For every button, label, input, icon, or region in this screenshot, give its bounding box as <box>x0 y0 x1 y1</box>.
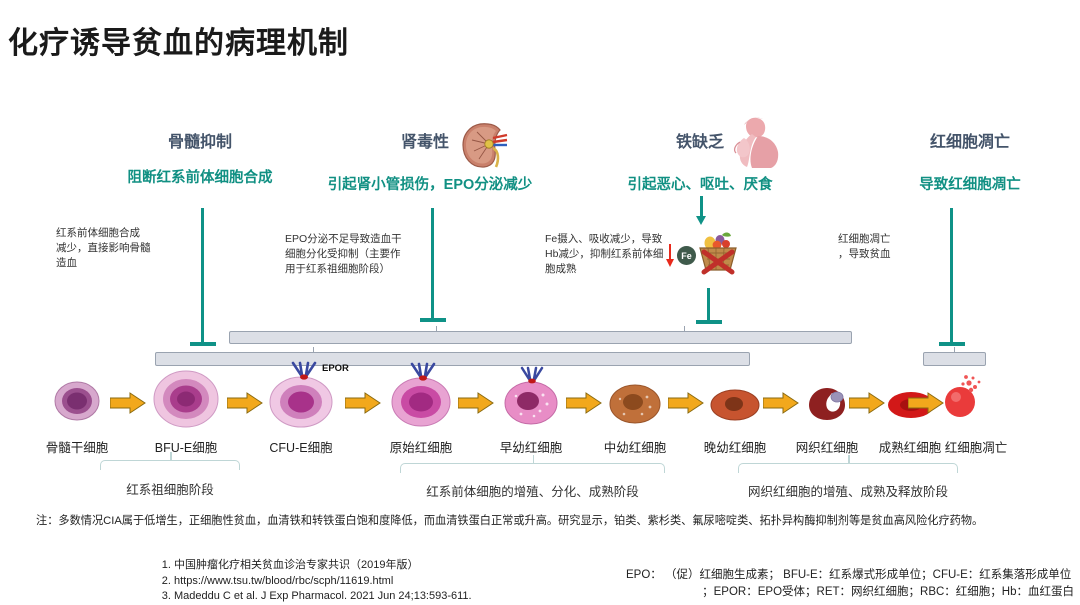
nausea-person-icon <box>716 116 782 170</box>
arrow-4 <box>458 392 494 419</box>
inhibition-bar-iron-deficiency <box>696 288 722 328</box>
arrow-3 <box>345 392 381 419</box>
stage-caption-precursor: 红系前体细胞的增殖、分化、成熟阶段 <box>390 481 675 500</box>
cell-label-cfu-e: CFU-E细胞 <box>253 437 349 456</box>
decrease-arrow-icon <box>665 244 675 273</box>
cell-label-polychromatic-erythroblast: 中幼红细胞 <box>587 437 683 456</box>
pathway-bracket-upper <box>229 331 852 344</box>
arrow-6 <box>668 392 704 419</box>
epor-label: EPOR <box>322 363 349 374</box>
pathway-bracket-lower <box>155 352 750 366</box>
fruit-basket-blocked-icon <box>692 228 744 283</box>
column-header-myelosuppression: 骨髓抑制 <box>100 128 300 152</box>
reference-item: Madeddu C et al. J Exp Pharmacol. 2021 J… <box>174 589 472 605</box>
arrow-2 <box>227 392 263 419</box>
column-subtitle-myelosuppression: 阻断红系前体细胞合成 <box>95 166 305 187</box>
inhibition-bar-rbc-apoptosis <box>939 208 965 350</box>
stage-caption-progenitor: 红系祖细胞阶段 <box>110 479 230 498</box>
teal-down-arrow-iron <box>696 196 707 226</box>
footnote-note: 注：多数情况CIA属于低增生，正细胞性贫血，血清铁和转铁蛋白饱和度降低，而血清铁… <box>36 512 1048 530</box>
abbreviation-legend: EPO： （促）红细胞生成素； BFU-E：红系爆式形成单位；CFU-E：红系集… <box>626 567 1074 602</box>
arrow-8 <box>849 392 885 419</box>
cell-label-stem: 骨髓干细胞 <box>29 437 125 456</box>
inhibition-bar-myelosuppression <box>190 208 216 350</box>
column-header-rbc-apoptosis: 红细胞凋亡 <box>870 128 1070 152</box>
epor-receptor-icon-proerythroblast <box>408 362 438 387</box>
cell-label-apoptosis: 红细胞凋亡 <box>928 437 1024 456</box>
page-title: 化疗诱导贫血的病理机制 <box>8 18 349 62</box>
kidney-icon <box>455 118 515 173</box>
cell-orthochromatic-erythroblast <box>710 386 760 429</box>
cell-stem <box>53 379 101 428</box>
cell-label-bfu-e: BFU-E细胞 <box>138 437 234 456</box>
arrow-7 <box>763 392 799 419</box>
cell-polychromatic-erythroblast <box>608 381 662 431</box>
legend-line-1: EPO： （促）红细胞生成素； BFU-E：红系爆式形成单位；CFU-E：红系集… <box>626 567 1074 584</box>
epor-receptor-icon-cfu-e <box>289 361 319 386</box>
arrow-5 <box>566 392 602 419</box>
pathway-bracket-apoptosis <box>923 352 986 366</box>
epor-receptor-icon-basophilic <box>518 366 546 390</box>
stage-bracket-precursor <box>400 463 665 473</box>
stage-bracket-reticulocyte <box>738 463 958 473</box>
cell-label-basophilic-erythroblast: 早幼红细胞 <box>483 437 579 456</box>
stage-bracket-progenitor <box>100 460 240 470</box>
cell-label-orthochromatic-erythroblast: 晚幼红细胞 <box>687 437 783 456</box>
cell-label-proerythroblast: 原始红细胞 <box>373 437 469 456</box>
arrow-1 <box>110 392 146 419</box>
cell-apoptosis <box>938 372 986 425</box>
stage-caption-reticulocyte: 网织红细胞的增殖、成熟及释放阶段 <box>732 481 964 500</box>
column-subtitle-nephrotoxicity: 引起肾小管损伤，EPO分泌减少 <box>285 173 575 194</box>
legend-line-2: ；EPOR：EPO受体；RET：网织红细胞；RBC：红细胞；Hb：血红蛋白 <box>626 584 1074 601</box>
reference-list: 中国肿瘤化疗相关贫血诊治专家共识（2019年版） https://www.tsu… <box>152 558 472 605</box>
cell-reticulocyte <box>804 385 850 428</box>
cell-label-reticulocyte: 网织红细胞 <box>779 437 875 456</box>
cell-bfu-e <box>152 368 220 435</box>
column-subtitle-iron-deficiency: 引起恶心、呕吐、厌食 <box>590 173 810 194</box>
inhibition-bar-nephrotoxicity <box>420 208 446 328</box>
column-subtitle-rbc-apoptosis: 导致红细胞凋亡 <box>875 173 1065 194</box>
reference-item: 中国肿瘤化疗相关贫血诊治专家共识（2019年版） <box>174 558 472 574</box>
reference-item[interactable]: https://www.tsu.tw/blood/rbc/scph/11619.… <box>174 574 472 590</box>
